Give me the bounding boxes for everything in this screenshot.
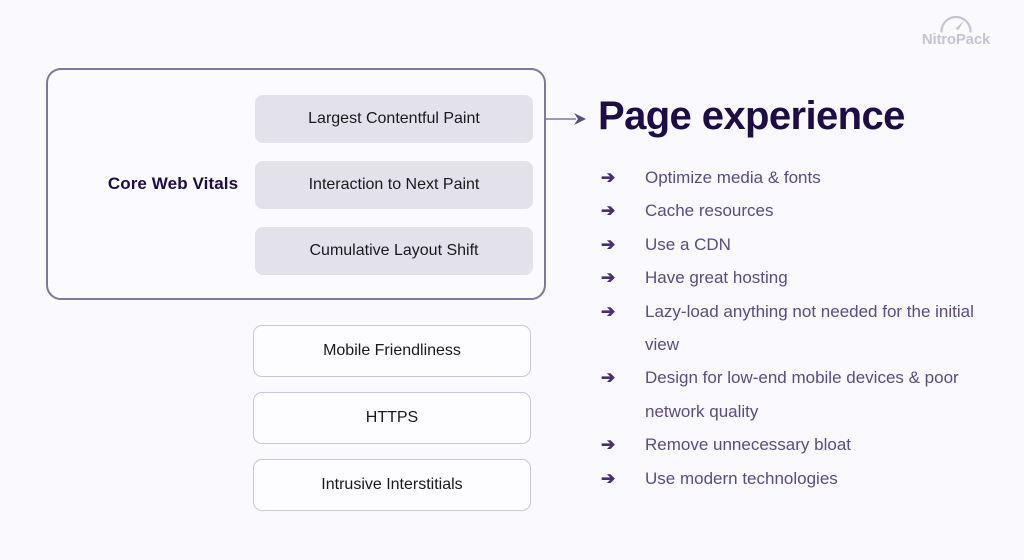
wordmark-pack: Pack bbox=[956, 31, 990, 48]
page-title: Page experience bbox=[598, 94, 998, 138]
arrow-right-icon: ➔ bbox=[601, 261, 615, 294]
other-signals-list: Mobile Friendliness HTTPS Intrusive Inte… bbox=[253, 325, 531, 511]
list-item-text: Use modern technologies bbox=[645, 469, 838, 488]
core-web-vitals-group: Core Web Vitals Largest Contentful Paint… bbox=[46, 68, 546, 300]
speedometer-icon bbox=[939, 12, 973, 33]
list-item: ➔ Cache resources bbox=[598, 194, 998, 227]
list-item-text: Remove unnecessary bloat bbox=[645, 435, 851, 454]
list-item: ➔ Remove unnecessary bloat bbox=[598, 428, 998, 461]
list-item: ➔ Optimize media & fonts bbox=[598, 161, 998, 194]
nitropack-logo: NitroPack bbox=[910, 12, 1002, 56]
list-item-text: Design for low-end mobile devices & poor… bbox=[645, 368, 959, 420]
arrow-right-icon: ➔ bbox=[601, 161, 615, 194]
list-item: ➔ Lazy-load anything not needed for the … bbox=[598, 295, 998, 362]
connector-arrow-icon bbox=[544, 106, 594, 132]
page-experience-panel: Page experience ➔ Optimize media & fonts… bbox=[598, 94, 998, 495]
nitropack-wordmark: NitroPack bbox=[922, 32, 990, 47]
list-item: ➔ Design for low-end mobile devices & po… bbox=[598, 361, 998, 428]
arrow-right-icon: ➔ bbox=[601, 428, 615, 461]
list-item-text: Lazy-load anything not needed for the in… bbox=[645, 302, 974, 354]
list-item: ➔ Use modern technologies bbox=[598, 462, 998, 495]
list-item-text: Optimize media & fonts bbox=[645, 168, 821, 187]
core-web-vitals-metric-list: Largest Contentful Paint Interaction to … bbox=[255, 95, 533, 275]
core-web-vitals-label: Core Web Vitals bbox=[78, 70, 268, 298]
metric-chip-inp: Interaction to Next Paint bbox=[255, 161, 533, 209]
signal-box-intrusive-interstitials: Intrusive Interstitials bbox=[253, 459, 531, 511]
arrow-right-icon: ➔ bbox=[601, 228, 615, 261]
signal-box-mobile-friendliness: Mobile Friendliness bbox=[253, 325, 531, 377]
arrow-right-icon: ➔ bbox=[601, 361, 615, 394]
signal-box-https: HTTPS bbox=[253, 392, 531, 444]
list-item-text: Cache resources bbox=[645, 201, 774, 220]
metric-chip-lcp: Largest Contentful Paint bbox=[255, 95, 533, 143]
metric-chip-cls: Cumulative Layout Shift bbox=[255, 227, 533, 275]
wordmark-nitro: Nitro bbox=[922, 31, 956, 48]
list-item-text: Use a CDN bbox=[645, 235, 731, 254]
recommendation-list: ➔ Optimize media & fonts ➔ Cache resourc… bbox=[598, 161, 998, 495]
arrow-right-icon: ➔ bbox=[601, 462, 615, 495]
arrow-right-icon: ➔ bbox=[601, 295, 615, 328]
list-item-text: Have great hosting bbox=[645, 268, 788, 287]
list-item: ➔ Have great hosting bbox=[598, 261, 998, 294]
arrow-right-icon: ➔ bbox=[601, 194, 615, 227]
list-item: ➔ Use a CDN bbox=[598, 228, 998, 261]
